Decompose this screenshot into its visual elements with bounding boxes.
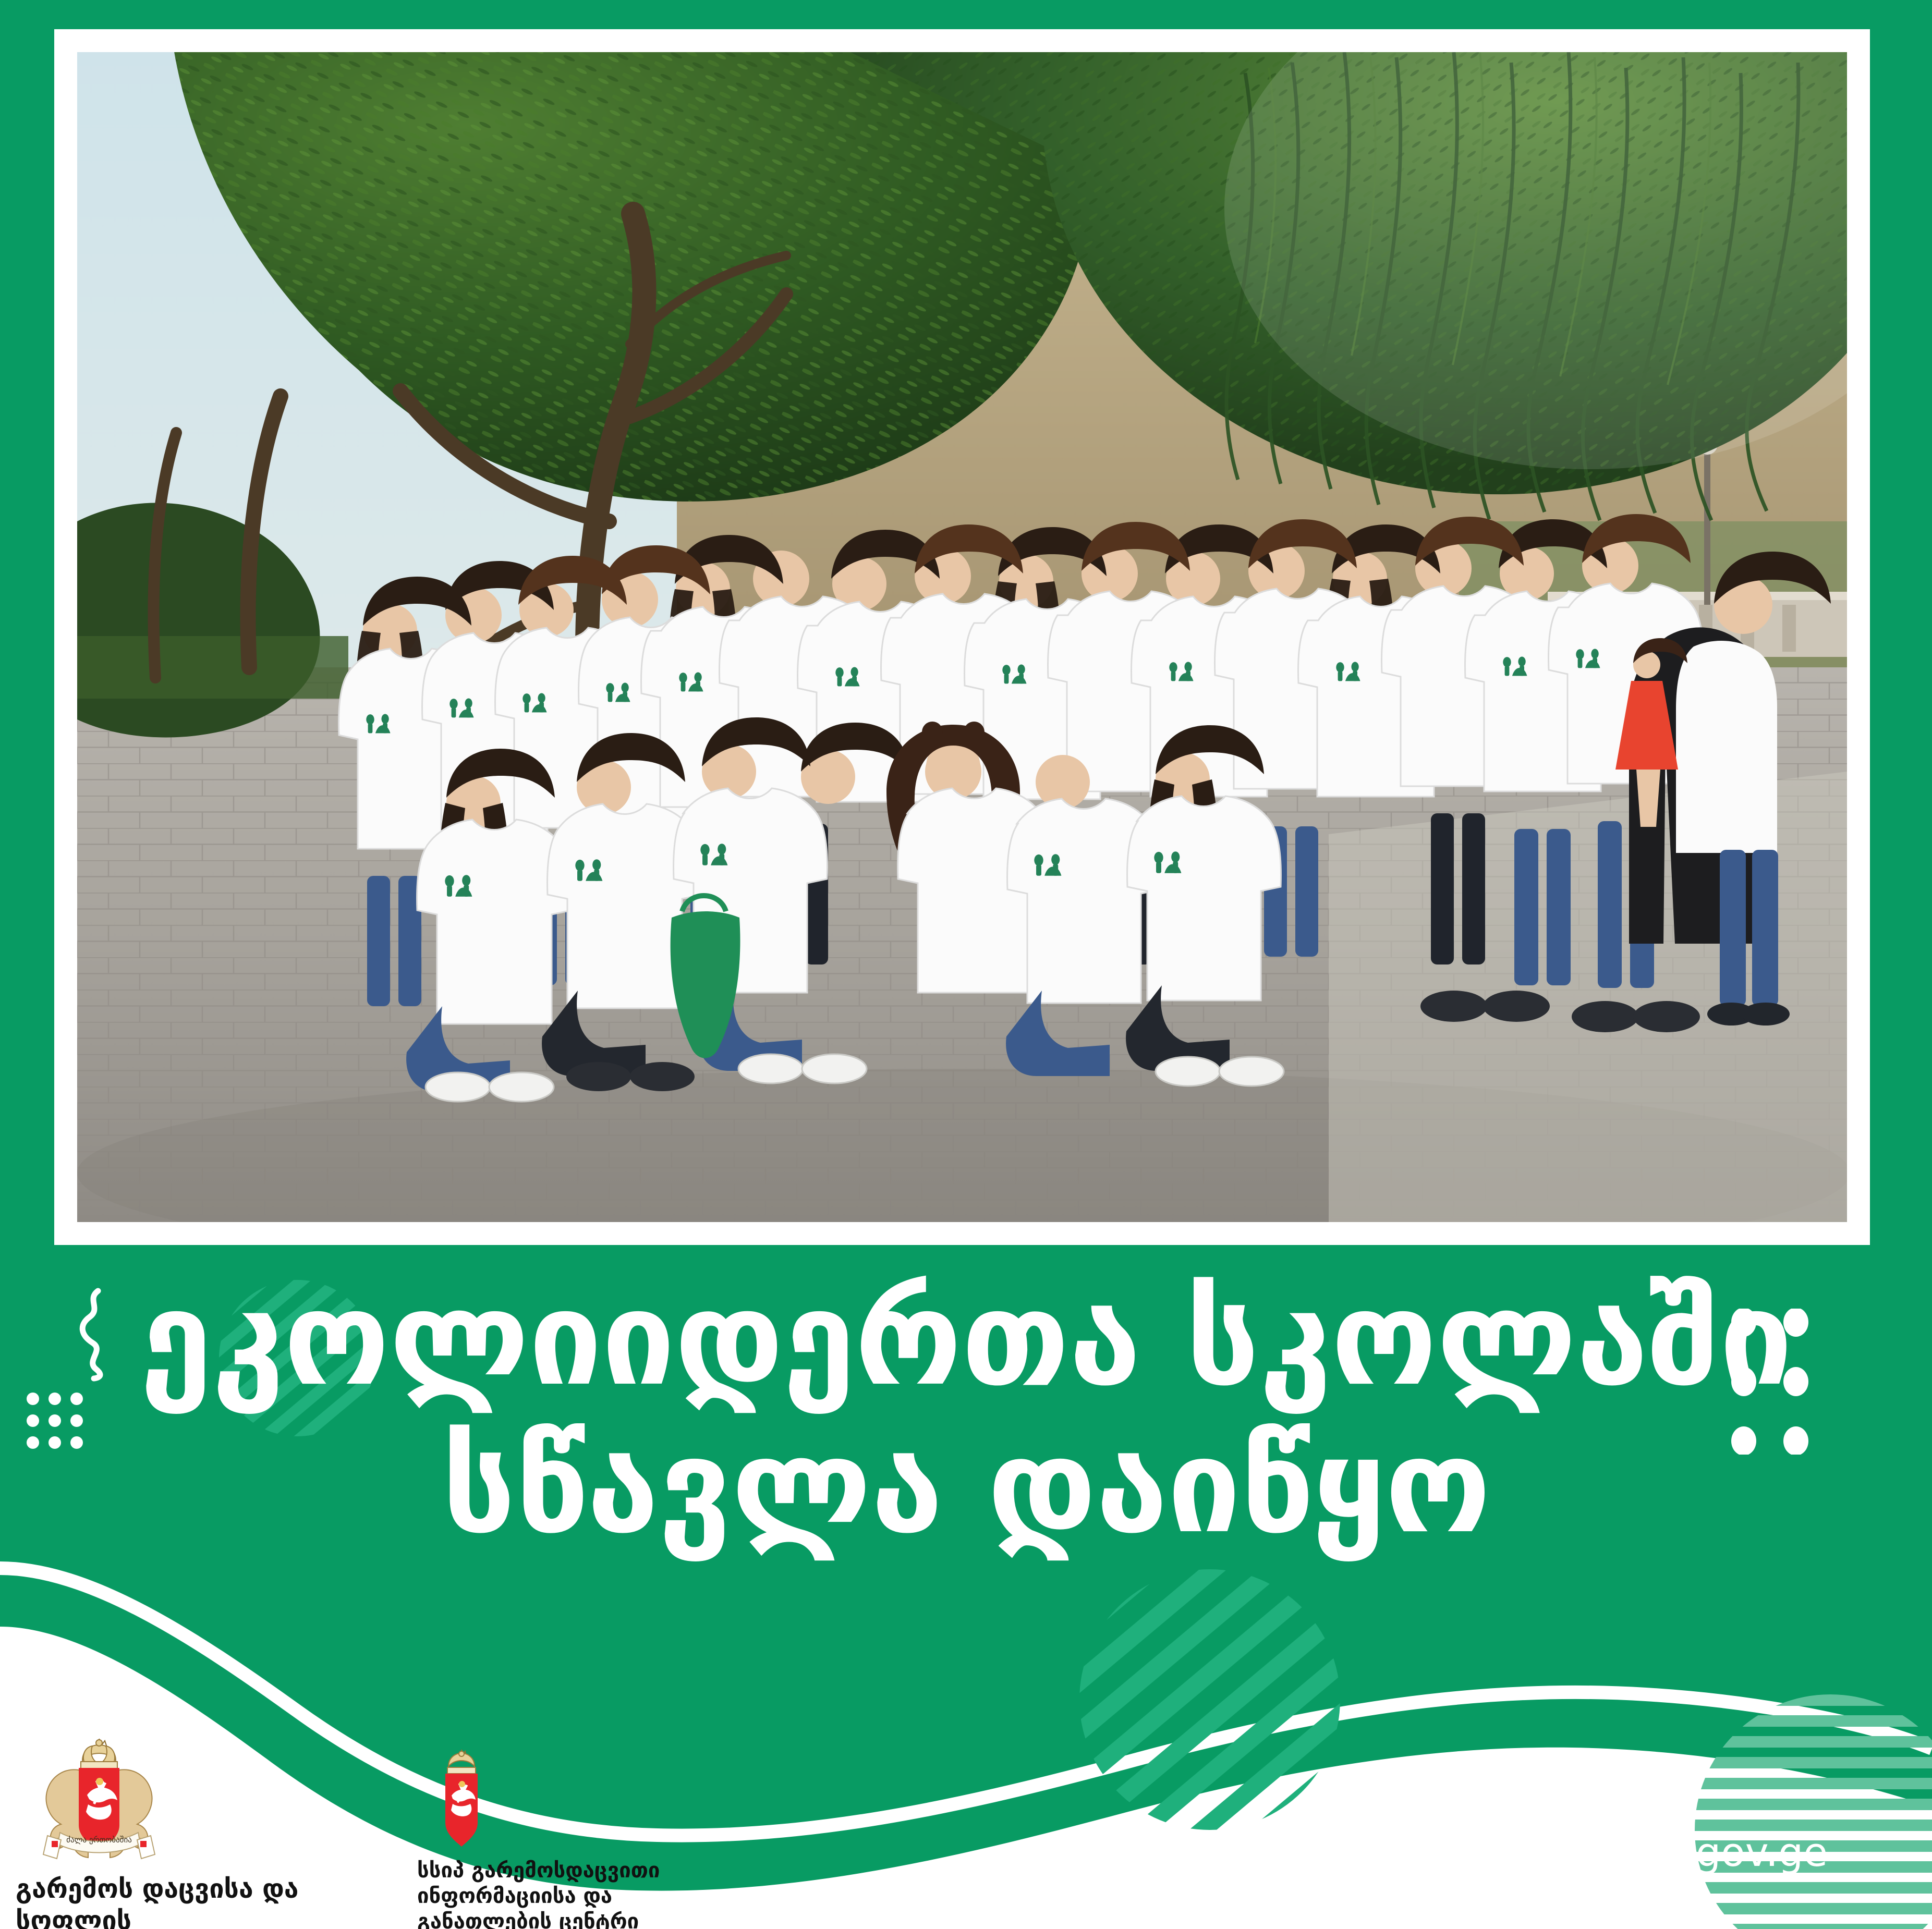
email-link[interactable]: info@eiec.gov.ge xyxy=(1488,1829,1828,1875)
headline-line-2: სწავლა დაიწყო xyxy=(0,1420,1932,1553)
eiec-logo-text: სსიპ გარემოსდაცვითი ინფორმაციისა და განა… xyxy=(417,1858,660,1929)
georgia-lesser-coat-of-arms-icon xyxy=(428,1747,495,1851)
poster-canvas: ეკოლიიდერთა სკოლაში სწავლა დაიწყო xyxy=(0,0,1932,1929)
eiec-logo-text-line-3: განათლების ცენტრი xyxy=(417,1909,660,1929)
eiec-logo-block: სსიპ გარემოსდაცვითი ინფორმაციისა და განა… xyxy=(417,1747,751,1929)
photo-frame xyxy=(54,29,1870,1245)
page-title: ეკოლიიდერთა სკოლაში სწავლა დაიწყო xyxy=(0,1272,1932,1553)
contact-separator: | xyxy=(1457,1829,1488,1875)
eiec-logo-text-line-1: სსიპ გარემოსდაცვითი xyxy=(417,1858,660,1884)
ministry-logo-text: გარემოს დაცვისა და სოფლის მეურნეობის სამ… xyxy=(16,1873,412,1929)
headline-line-1: ეკოლიიდერთა სკოლაში xyxy=(0,1272,1932,1405)
ministry-logo-text-line-1: გარემოს დაცვისა და სოფლის xyxy=(16,1873,412,1929)
eiec-logo-text-line-2: ინფორმაციისა და xyxy=(417,1884,660,1909)
footer: ძალა ერთობაშია გარემოს დაცვისა და სოფლის… xyxy=(0,1710,1932,1929)
crest-motto: ძალა ერთობაშია xyxy=(66,1835,132,1845)
website-link[interactable]: www.eiec.gov.ge xyxy=(1125,1829,1457,1875)
ministry-logo-block: ძალა ერთობაშია გარემოს დაცვისა და სოფლის… xyxy=(16,1733,412,1929)
georgia-greater-coat-of-arms-icon: ძალა ერთობაშია xyxy=(34,1733,164,1864)
group-photo xyxy=(77,52,1847,1222)
contact-info: www.eiec.gov.ge|info@eiec.gov.ge xyxy=(1125,1829,1828,1875)
